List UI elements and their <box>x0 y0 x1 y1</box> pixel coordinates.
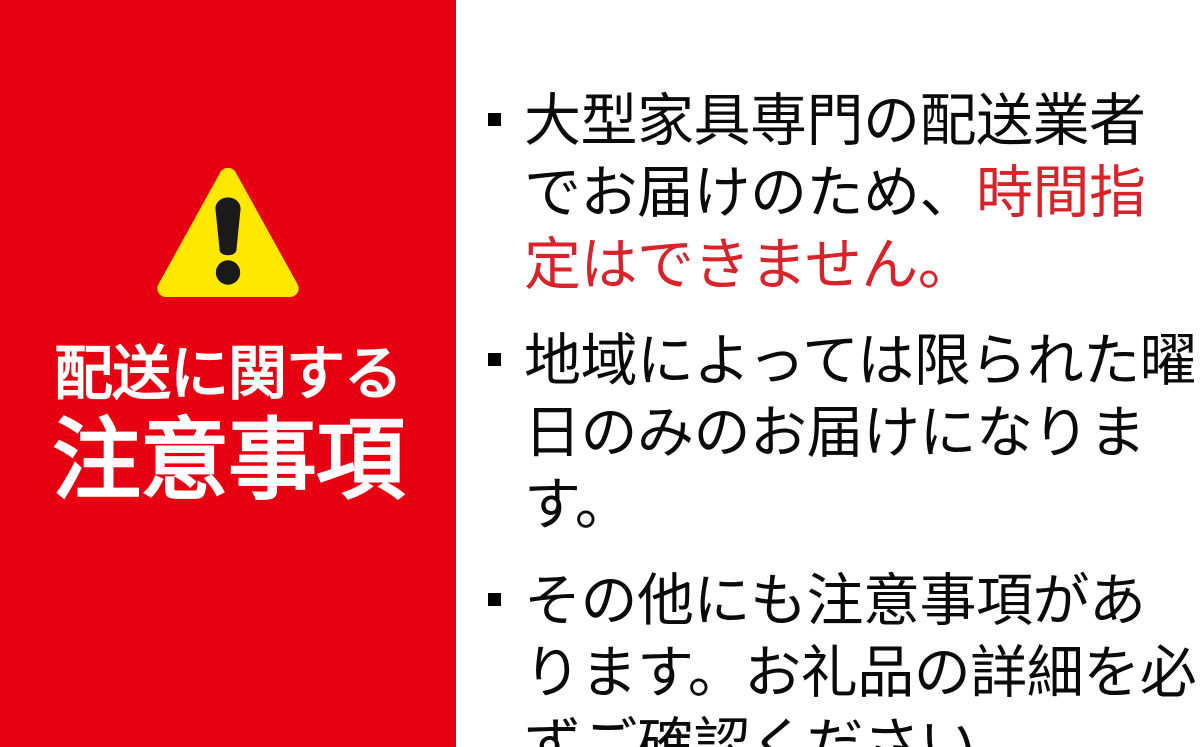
left-red-panel: 配送に関する 注意事項 <box>0 0 456 747</box>
panel-title: 配送に関する 注意事項 <box>0 336 456 508</box>
list-item: 大型家具専門の配送業者でお届けのため、時間指定はできません。 <box>488 85 1201 301</box>
warning-triangle-exclamation-icon <box>156 166 300 298</box>
panel-title-line-1: 配送に関する <box>0 336 456 412</box>
notice-text-segment: その他にも注意事項があります。お礼品の詳細を必ずご確認ください。 <box>524 569 1196 747</box>
panel-title-line-2: 注意事項 <box>0 412 456 508</box>
notice-text: その他にも注意事項があります。お礼品の詳細を必ずご確認ください。 <box>524 565 1201 747</box>
list-item: 地域によっては限られた曜日のみのお届けになります。 <box>488 325 1201 541</box>
notice-text-segment: 地域によっては限られた曜日のみのお届けになります。 <box>524 329 1196 537</box>
bullet-square-icon <box>488 113 501 126</box>
bullet-square-icon <box>488 353 501 366</box>
notice-text: 大型家具専門の配送業者でお届けのため、時間指定はできません。 <box>524 85 1201 301</box>
notice-list: 大型家具専門の配送業者でお届けのため、時間指定はできません。 地域によっては限ら… <box>488 85 1201 747</box>
delivery-notice-banner: 配送に関する 注意事項 大型家具専門の配送業者でお届けのため、時間指定はできませ… <box>0 0 1201 747</box>
notice-text: 地域によっては限られた曜日のみのお届けになります。 <box>524 325 1201 541</box>
warning-icon-container <box>0 166 456 298</box>
bullet-square-icon <box>488 593 501 606</box>
right-notice-panel: 大型家具専門の配送業者でお届けのため、時間指定はできません。 地域によっては限ら… <box>456 0 1201 747</box>
list-item: その他にも注意事項があります。お礼品の詳細を必ずご確認ください。 <box>488 565 1201 747</box>
